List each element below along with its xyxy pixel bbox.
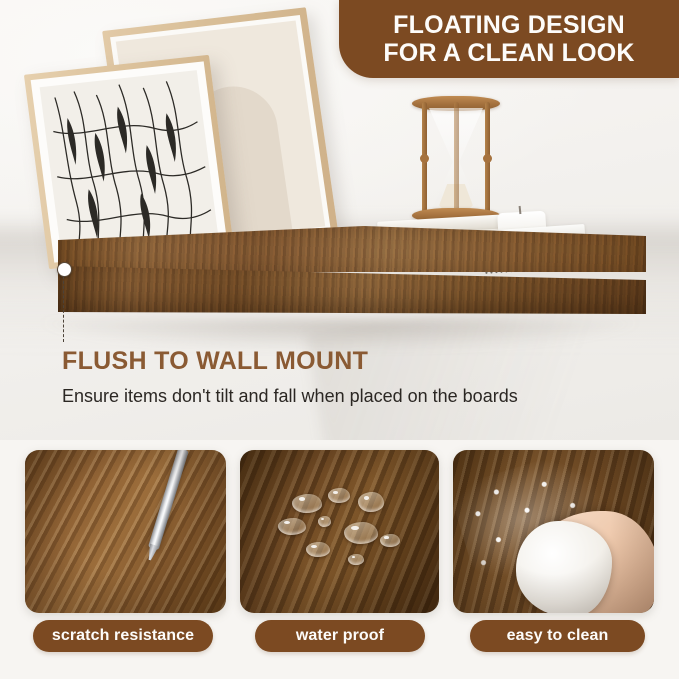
candle-wick	[519, 206, 522, 214]
hourglass	[412, 96, 500, 226]
hourglass-knob-right	[483, 154, 492, 163]
panel-vignette-2	[240, 450, 439, 613]
callout-text-block: FLUSH TO WALL MOUNT Ensure items don't t…	[62, 348, 642, 407]
feature-label-row: scratch resistance water proof easy to c…	[0, 620, 679, 658]
panel-vignette-3	[453, 450, 654, 613]
hourglass-post-middle	[454, 102, 459, 214]
feature-panel-scratch-resistance	[25, 450, 226, 613]
pill-water-proof[interactable]: water proof	[255, 620, 425, 652]
callout-title: FLUSH TO WALL MOUNT	[62, 348, 642, 376]
wall-mount-dot-icon	[57, 262, 72, 277]
pill-easy-to-clean[interactable]: easy to clean	[470, 620, 645, 652]
callout-dashed-line	[63, 276, 64, 342]
shelf-front-grain	[58, 266, 646, 314]
banner-line-2: FOR A CLEAN LOOK	[383, 39, 634, 67]
product-feature-graphic: FLOATING DESIGN FOR A CLEAN LOOK FLUSH T…	[0, 0, 679, 679]
feature-panel-row	[0, 450, 679, 615]
banner-line-1: FLOATING DESIGN	[393, 11, 625, 39]
shelf-top-surface	[58, 226, 646, 272]
shelf-top-grain	[58, 226, 646, 272]
shelf-drop-shadow	[40, 320, 640, 350]
floating-shelf	[58, 226, 646, 326]
callout-subtitle: Ensure items don't tilt and fall when pl…	[62, 385, 642, 408]
pill-scratch-resistance[interactable]: scratch resistance	[33, 620, 213, 652]
hourglass-knob-left	[420, 154, 429, 163]
feature-panel-easy-to-clean	[453, 450, 654, 613]
headline-banner: FLOATING DESIGN FOR A CLEAN LOOK	[339, 0, 679, 78]
shelf-front-edge	[58, 266, 646, 314]
panel-vignette-1	[25, 450, 226, 613]
feature-panel-water-proof	[240, 450, 439, 613]
